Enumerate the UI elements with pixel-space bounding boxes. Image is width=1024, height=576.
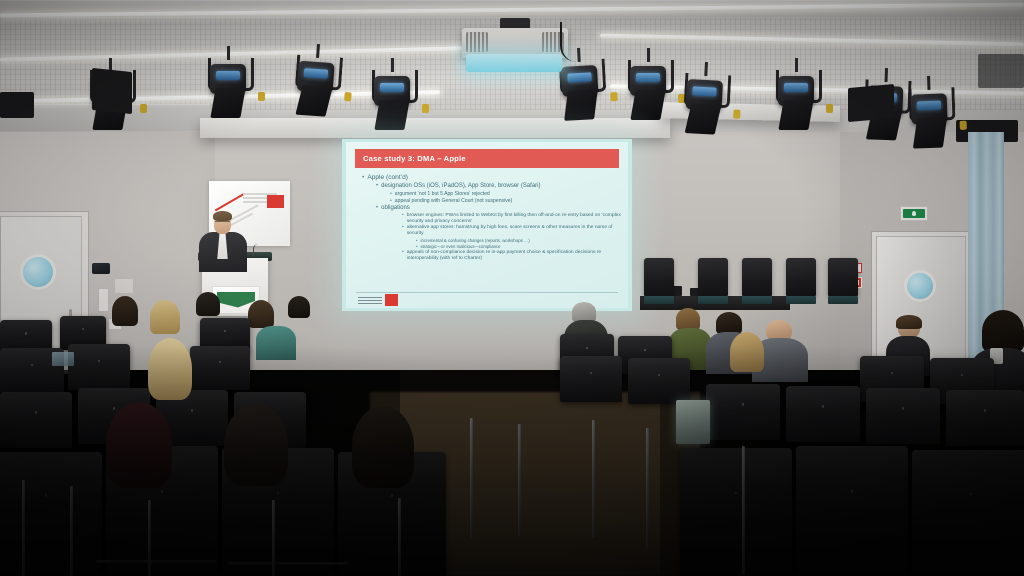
slide-bullet: •obligations	[376, 205, 622, 212]
emergency-exit-sign	[900, 206, 928, 221]
slide-bullet-text: incremental & confusing changes (reports…	[421, 238, 530, 243]
wall-sign	[114, 278, 134, 294]
air-vent-grille-upper	[978, 54, 1024, 88]
slide-bullet-text: browser engines: PWAs limited to WebKit …	[407, 213, 622, 225]
logo-lines-icon	[358, 296, 382, 304]
seat-r2-4[interactable]	[628, 358, 690, 404]
projector-lens	[466, 54, 562, 72]
seat-front-6[interactable]	[912, 450, 1024, 576]
attendee-laptop-screen	[676, 400, 710, 444]
projector-cable	[560, 22, 602, 62]
slide-bullet-text: appeal pending with General Court (not s…	[395, 198, 513, 204]
slide-bullet-text: alternative app stores: hamstrung by hig…	[407, 225, 622, 237]
empty-chair-1-seat	[644, 296, 674, 304]
chair-leg-4	[470, 418, 473, 538]
left-door-porthole-icon	[23, 257, 53, 287]
bullet-marker-icon: •	[402, 225, 404, 237]
seat-front-4[interactable]	[680, 448, 792, 576]
slide-footer-divider	[356, 292, 618, 293]
slide-bullet-text: appeals of non-compliance decision re in…	[407, 250, 622, 262]
exit-running-man-icon	[903, 209, 924, 217]
chair-leg-6	[592, 420, 595, 538]
seat-r2-3[interactable]	[560, 356, 622, 402]
slide-bullet: •Apple (cont’d)	[362, 174, 622, 182]
seat-r2-1[interactable]	[68, 344, 130, 390]
chair-leg-5	[518, 424, 521, 536]
wall-light-switch[interactable]	[98, 288, 109, 312]
seat-r3-6[interactable]	[866, 388, 940, 444]
right-door-porthole-icon	[907, 273, 933, 299]
slide-title: Case study 3: DMA – Apple	[355, 154, 466, 163]
slide-bullet: •browser engines: PWAs limited to WebKit…	[402, 213, 622, 225]
wall-control-display[interactable]	[92, 263, 110, 274]
slide-bullet: •designation OSs (iOS, iPadOS), App Stor…	[376, 183, 622, 190]
seat-row-bar-1	[96, 560, 216, 563]
chair-leg-7	[646, 428, 649, 548]
slide-bullet: •argument ‘not 1 but 5 App Stores’ rejec…	[390, 191, 622, 197]
slide-bullet-text: Apple (cont’d)	[367, 174, 408, 182]
slide-bullet-text: obligations	[381, 205, 410, 212]
bullet-marker-icon: •	[376, 183, 378, 190]
slide-bullet: •alternative app stores: hamstrung by hi…	[402, 225, 622, 237]
logo-mark-icon	[385, 294, 398, 306]
banner-logo-icon	[267, 195, 284, 208]
slide-body: •Apple (cont’d)•designation OSs (iOS, iP…	[356, 174, 622, 263]
empty-chair-4-seat	[786, 296, 816, 304]
projector-vent-left	[466, 32, 488, 52]
slide-title-bar: Case study 3: DMA – Apple	[355, 149, 619, 168]
bullet-marker-icon: •	[376, 205, 378, 212]
presentation-slide: Case study 3: DMA – Apple •Apple (cont’d…	[346, 142, 628, 308]
slide-bullet: •incremental & confusing changes (report…	[416, 238, 622, 243]
chair-leg-8	[742, 446, 745, 574]
lecture-hall-photo: Case study 3: DMA – Apple •Apple (cont’d…	[0, 0, 1024, 576]
slide-bullet: •appeals of non-compliance decision re i…	[402, 250, 622, 262]
chair-leg-9	[70, 486, 73, 576]
bullet-marker-icon: •	[390, 191, 392, 197]
slide-bullet: •appeal pending with General Court (not …	[390, 198, 622, 204]
bullet-marker-icon: •	[390, 198, 392, 204]
empty-chair-2-seat	[698, 296, 728, 304]
empty-chair-1[interactable]	[644, 258, 674, 296]
bullet-marker-icon: •	[402, 250, 404, 262]
seat-r3-0[interactable]	[0, 392, 72, 448]
empty-chair-3-seat	[742, 296, 772, 304]
presenter-hair	[213, 211, 232, 221]
seat-r3-4[interactable]	[706, 384, 780, 440]
chair-leg-3	[398, 498, 401, 576]
empty-chair-5[interactable]	[828, 258, 858, 296]
chair-leg-2	[272, 500, 275, 576]
seat-front-5[interactable]	[796, 446, 908, 576]
bullet-marker-icon: •	[402, 213, 404, 225]
empty-chair-4[interactable]	[786, 258, 816, 296]
microphone-2	[253, 244, 266, 256]
seat-r3-7[interactable]	[946, 390, 1024, 446]
chair-leg-10	[22, 480, 25, 576]
slide-footer-logo	[358, 294, 398, 306]
slide-bullet-text: designation OSs (iOS, iPadOS), App Store…	[381, 183, 540, 190]
bullet-marker-icon: •	[362, 174, 364, 182]
seat-r3-5[interactable]	[786, 386, 860, 442]
empty-chair-3[interactable]	[742, 258, 772, 296]
chair-leg-1	[148, 500, 151, 576]
slide-bullet-text: argument ‘not 1 but 5 App Stores’ reject…	[395, 191, 490, 197]
seat-row-bar-2	[228, 562, 348, 565]
empty-chair-2[interactable]	[698, 258, 728, 296]
ceiling-speaker-left	[92, 68, 132, 114]
seat-front-0[interactable]	[0, 452, 102, 576]
empty-chair-5-seat	[828, 296, 858, 304]
seat-r2-2[interactable]	[190, 346, 250, 390]
ceiling-speaker-right	[848, 84, 894, 122]
ceiling-speaker-far-left	[0, 92, 34, 118]
ceiling-soffit	[200, 118, 670, 138]
bullet-marker-icon: •	[416, 244, 418, 249]
bullet-marker-icon: •	[416, 238, 418, 243]
presenter-glasses-icon	[215, 221, 230, 225]
slide-bullet: •strategic—or even malicious—compliance	[416, 244, 622, 249]
slide-bullet-text: strategic—or even malicious—compliance	[421, 244, 501, 249]
attendee-laptop-screen-2	[52, 352, 74, 366]
